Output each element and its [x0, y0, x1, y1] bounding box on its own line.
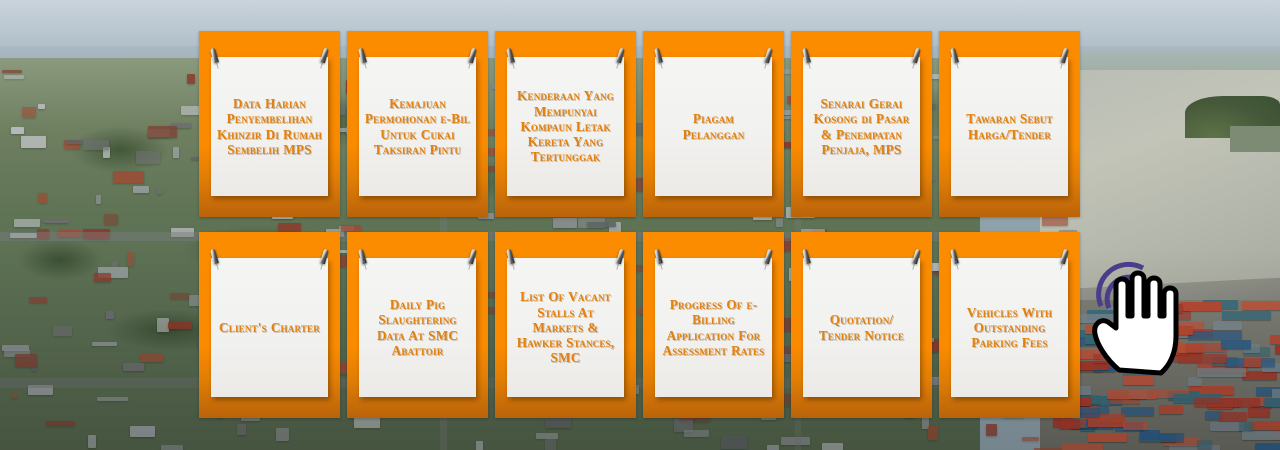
card-paper: Kenderaan Yang Mempunyai Kompaun Letak K…: [507, 57, 624, 196]
quick-link-card-kemajuan-permohonan-ebil[interactable]: Kemajuan Permohonan e-Bil Untuk Cukai Ta…: [347, 31, 488, 217]
pin-icon-left: [654, 249, 663, 265]
pin-icon-right: [320, 48, 329, 64]
quick-link-card-clients-charter[interactable]: Client's Charter: [199, 232, 340, 418]
card-title: Kenderaan Yang Mempunyai Kompaun Letak K…: [512, 88, 619, 165]
page-root: Data Harian Penyembelihan Khinzir Di Rum…: [0, 0, 1280, 450]
quick-link-card-tawaran-sebut-harga-tender[interactable]: Tawaran Sebut Harga/Tender: [939, 31, 1080, 217]
pin-icon-right: [616, 48, 625, 64]
card-paper: Quotation/ Tender Notice: [803, 258, 920, 397]
pin-icon-right: [912, 48, 921, 64]
card-title: Daily Pig Slaughtering Data At SMC Abatt…: [364, 297, 471, 358]
card-title: Client's Charter: [219, 320, 320, 335]
pin-icon-left: [506, 48, 515, 64]
card-title: Tawaran Sebut Harga/Tender: [956, 111, 1063, 142]
pin-icon-right: [764, 48, 773, 64]
quick-link-card-vehicles-outstanding-parking-fees[interactable]: Vehicles With Outstanding Parking Fees: [939, 232, 1080, 418]
card-title: Kemajuan Permohonan e-Bil Untuk Cukai Ta…: [364, 96, 471, 157]
card-title: Data Harian Penyembelihan Khinzir Di Rum…: [216, 96, 323, 157]
pin-icon-left: [210, 249, 219, 265]
card-paper: Senarai Gerai Kosong di Pasar & Penempat…: [803, 57, 920, 196]
card-paper: Daily Pig Slaughtering Data At SMC Abatt…: [359, 258, 476, 397]
card-paper: Data Harian Penyembelihan Khinzir Di Rum…: [211, 57, 328, 196]
card-paper: Progress Of e-Billing Application For As…: [655, 258, 772, 397]
pin-icon-left: [654, 48, 663, 64]
quick-link-card-list-of-vacant-stalls[interactable]: List Of Vacant Stalls At Markets & Hawke…: [495, 232, 636, 418]
card-paper: List Of Vacant Stalls At Markets & Hawke…: [507, 258, 624, 397]
pin-icon-left: [802, 249, 811, 265]
pin-icon-left: [802, 48, 811, 64]
card-paper: Tawaran Sebut Harga/Tender: [951, 57, 1068, 196]
card-title: Quotation/ Tender Notice: [808, 312, 915, 343]
card-title: List Of Vacant Stalls At Markets & Hawke…: [512, 289, 619, 366]
quick-link-card-progress-of-ebilling[interactable]: Progress Of e-Billing Application For As…: [643, 232, 784, 418]
pin-icon-right: [468, 249, 477, 265]
pin-icon-right: [320, 249, 329, 265]
card-title: Piagam Pelanggan: [660, 111, 767, 142]
pin-icon-left: [358, 249, 367, 265]
card-paper: Piagam Pelanggan: [655, 57, 772, 196]
pin-icon-right: [1060, 249, 1069, 265]
card-title: Progress Of e-Billing Application For As…: [660, 297, 767, 358]
pin-icon-right: [764, 249, 773, 265]
quick-link-card-daily-pig-slaughtering-data[interactable]: Daily Pig Slaughtering Data At SMC Abatt…: [347, 232, 488, 418]
pin-icon-right: [616, 249, 625, 265]
card-title: Senarai Gerai Kosong di Pasar & Penempat…: [808, 96, 915, 157]
quick-links-grid: Data Harian Penyembelihan Khinzir Di Rum…: [199, 31, 1080, 418]
pin-icon-left: [950, 249, 959, 265]
card-paper: Vehicles With Outstanding Parking Fees: [951, 258, 1068, 397]
card-title: Vehicles With Outstanding Parking Fees: [956, 305, 1063, 351]
quick-link-card-kenderaan-kompaun-letak-kereta[interactable]: Kenderaan Yang Mempunyai Kompaun Letak K…: [495, 31, 636, 217]
pin-icon-left: [358, 48, 367, 64]
pin-icon-right: [912, 249, 921, 265]
pin-icon-left: [210, 48, 219, 64]
pin-icon-left: [950, 48, 959, 64]
quick-link-card-senarai-gerai-kosong[interactable]: Senarai Gerai Kosong di Pasar & Penempat…: [791, 31, 932, 217]
quick-link-card-quotation-tender-notice[interactable]: Quotation/ Tender Notice: [791, 232, 932, 418]
pin-icon-left: [506, 249, 515, 265]
pin-icon-right: [1060, 48, 1069, 64]
card-paper: Client's Charter: [211, 258, 328, 397]
card-paper: Kemajuan Permohonan e-Bil Untuk Cukai Ta…: [359, 57, 476, 196]
pin-icon-right: [468, 48, 477, 64]
quick-link-card-piagam-pelanggan[interactable]: Piagam Pelanggan: [643, 31, 784, 217]
quick-link-card-data-harian-penyembelihan[interactable]: Data Harian Penyembelihan Khinzir Di Rum…: [199, 31, 340, 217]
